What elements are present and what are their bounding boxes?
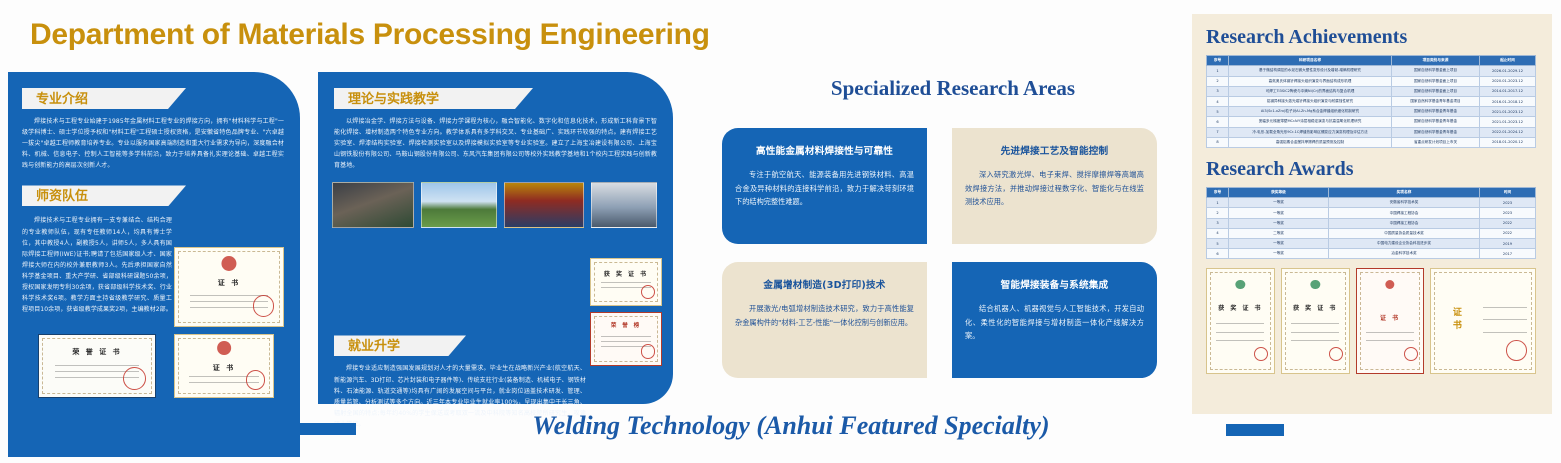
panel-major-intro: 专业介绍 焊接技术与工程专业始建于1985年金属材料工程专业的焊接方向，拥有"材… xyxy=(8,72,300,457)
research-area-heading: 先进焊接工艺及智能控制 xyxy=(952,143,1157,157)
photo-classroom xyxy=(332,182,414,228)
table-row: 4铝钢异种接头激光熔钎焊接头组织演变与耐腐蚀性研究国家自然科学基金青年基金项目2… xyxy=(1207,96,1536,106)
awards-certificate-gallery: 获 奖 证 书 获 奖 证 书 证 书 证书 xyxy=(1206,268,1536,374)
emblem-icon xyxy=(1236,280,1245,289)
emblem-icon xyxy=(1385,280,1394,289)
table-row: 1一等奖安徽省科学技术奖2023 xyxy=(1207,198,1536,208)
research-areas-title: Specialized Research Areas xyxy=(818,76,1088,101)
table-column-header: 项目类别与来源 xyxy=(1392,56,1480,66)
table-cell: 一等奖 xyxy=(1229,218,1329,228)
table-cell: 一等奖 xyxy=(1229,208,1329,218)
section-tag-faculty: 师资队伍 xyxy=(22,185,186,206)
seal-icon xyxy=(1506,340,1527,361)
table-cell: 6 xyxy=(1207,117,1229,127)
table-cell: Al3(Sc1-xZrx)粒子对Al-Zn-Mg系合金焊缝组织细化机制研究 xyxy=(1229,107,1392,117)
table-row: 4二等奖中国质量协会质量技术奖2022 xyxy=(1207,228,1536,238)
table-row: 7冷-轧形-加载全角光形9Cr-1C焊缝热影响区蠕变应力演变机理及评估方法国家自… xyxy=(1207,127,1536,137)
section-body-teaching: 以焊接冶金学、焊接方法与设备、焊接力学课程为核心，融合智能化、数字化和信息化技术… xyxy=(334,116,657,171)
photo-campus xyxy=(421,182,497,228)
table-header-row: 序号获奖等级奖项名称时间 xyxy=(1207,187,1536,197)
table-cell: 国家自然科学基金面上项目 xyxy=(1392,76,1480,86)
table-column-header: 奖项名称 xyxy=(1329,187,1480,197)
seal-icon xyxy=(1329,347,1343,361)
certificate-image: 证 书 xyxy=(174,334,274,398)
table-cell: 2023 xyxy=(1480,208,1536,218)
table-cell: 2022 xyxy=(1480,228,1536,238)
table-column-header: 起止时间 xyxy=(1480,56,1536,66)
seal-icon xyxy=(1254,347,1268,361)
table-cell: 3 xyxy=(1207,86,1229,96)
table-cell: 2 xyxy=(1207,208,1229,218)
research-area-body: 结合机器人、机器视觉与人工智能技术，开发自动化、柔性化的智能焊接与增材制造一体化… xyxy=(965,302,1144,343)
table-cell: 国家自然科学基金青年基金 xyxy=(1392,127,1480,137)
table-cell: 一等奖 xyxy=(1229,239,1329,249)
page-title: Department of Materials Processing Engin… xyxy=(30,18,710,52)
table-cell: 一等奖 xyxy=(1229,249,1329,259)
seal-icon xyxy=(246,370,266,390)
seal-icon xyxy=(641,344,656,359)
table-row: 1基于微结构调控的水泥石微大塑性变形设计及增韧-增熵机理研究国家自然科学基金面上… xyxy=(1207,66,1536,76)
table-column-header: 序号 xyxy=(1207,56,1229,66)
seal-icon xyxy=(253,295,274,316)
table-column-header: 序号 xyxy=(1207,187,1229,197)
table-cell: 2022.01-2024.12 xyxy=(1480,127,1536,137)
seal-icon xyxy=(641,285,656,300)
awards-title: Research Awards xyxy=(1206,158,1552,181)
table-cell: 二等奖 xyxy=(1229,228,1329,238)
table-cell: 中国焊接工程协会 xyxy=(1329,218,1480,228)
table-cell: 中国焊接工程协会 xyxy=(1329,208,1480,218)
table-column-header: 时间 xyxy=(1480,187,1536,197)
poster-root: Department of Materials Processing Engin… xyxy=(0,0,1561,463)
table-cell: 2021.01-2023.12 xyxy=(1480,107,1536,117)
achievements-table: 序号科研项目名称项目类别与来源起止时间 1基于微结构调控的水泥石微大塑性变形设计… xyxy=(1206,55,1536,148)
table-column-header: 获奖等级 xyxy=(1229,187,1329,197)
table-cell: 2026.01-2029.12 xyxy=(1480,66,1536,76)
table-cell: 6 xyxy=(1207,249,1229,259)
table-cell: 国家自然科学基金面上项目 xyxy=(1392,86,1480,96)
table-cell: 5 xyxy=(1207,107,1229,117)
table-row: 2一等奖中国焊接工程协会2023 xyxy=(1207,208,1536,218)
achievements-title: Research Achievements xyxy=(1206,26,1552,49)
table-cell: 2 xyxy=(1207,76,1229,86)
bottom-banner: Welding Technology (Anhui Featured Speci… xyxy=(264,405,1284,457)
certificate-image: 荣 誉 证 书 xyxy=(38,334,156,398)
photo-ceremony xyxy=(504,182,584,228)
table-cell: 1 xyxy=(1207,198,1229,208)
table-row: 8高强铝素合金搅拌摩擦焊的质量预测及控制省重点研发计划项目上市关2018.01-… xyxy=(1207,137,1536,147)
table-row: 3一等奖中国焊接工程协会2022 xyxy=(1207,218,1536,228)
table-cell: 4 xyxy=(1207,96,1229,106)
certificate-image: 荣 誉 榜 xyxy=(590,312,662,366)
table-cell: 3 xyxy=(1207,218,1229,228)
research-area-heading: 智能焊接装备与系统集成 xyxy=(952,277,1157,291)
banner-bar-right xyxy=(1226,424,1284,436)
table-cell: 冶金科学技术奖 xyxy=(1329,249,1480,259)
table-cell: 2020.01-2023.12 xyxy=(1480,76,1536,86)
certificate-image: 证 书 xyxy=(174,247,284,327)
table-cell: 国家自然科学基金青年基金 xyxy=(1392,107,1480,117)
certificate-image: 获 奖 证 书 xyxy=(1206,268,1275,374)
table-cell: 2023 xyxy=(1480,198,1536,208)
table-cell: 高氮奥氏体钢钎焊接头组织演变与界面结构成形机理 xyxy=(1229,76,1392,86)
table-cell: 安徽省科学技术奖 xyxy=(1329,198,1480,208)
section-body-major-intro: 焊接技术与工程专业始建于1985年金属材料工程专业的焊接方向，拥有"材料科学与工… xyxy=(22,116,284,171)
table-cell: 国家自然科学基金青年基金项目 xyxy=(1392,96,1480,106)
table-column-header: 科研项目名称 xyxy=(1229,56,1392,66)
research-area-heading: 金属增材制造(3D打印)技术 xyxy=(722,277,927,291)
panel-teaching: 理论与实践教学 以焊接冶金学、焊接方法与设备、焊接力学课程为核心，融合智能化、数… xyxy=(318,72,673,404)
table-cell: 2016.01-2018.12 xyxy=(1480,96,1536,106)
section-body-faculty: 焊接技术与工程专业拥有一支专兼结合、结构合理的专业教师队伍，现有专任教师14人，… xyxy=(22,215,172,315)
banner-bar-left-arm xyxy=(264,423,356,435)
table-cell: 2021.01-2023.12 xyxy=(1480,117,1536,127)
seal-icon xyxy=(1404,347,1418,361)
table-row: 5一等奖中国电力建设企业协会科技进步奖2019 xyxy=(1207,239,1536,249)
table-cell: 冷-轧形-加载全角光形9Cr-1C焊缝热影响区蠕变应力演变机理及评估方法 xyxy=(1229,127,1392,137)
research-area-card-4: 智能焊接装备与系统集成 结合机器人、机器视觉与人工智能技术，开发自动化、柔性化的… xyxy=(952,262,1157,378)
table-cell: 国家自然科学基金面上项目 xyxy=(1392,66,1480,76)
research-area-card-1: 高性能金属材料焊接性与可靠性 专注于航空航天、能源装备用先进钢铁材料、高温合金及… xyxy=(722,128,927,244)
emblem-icon xyxy=(217,341,231,355)
banner-title: Welding Technology (Anhui Featured Speci… xyxy=(368,411,1214,441)
table-cell: 省重点研发计划项目上市关 xyxy=(1392,137,1480,147)
research-area-body: 开展激光/电弧增材制造技术研究，致力于高性能复杂金属构件的"材料-工艺-性能"一… xyxy=(735,302,914,329)
table-cell: 可焊工Ti3SiC2陶瓷与中熵Ni(Cr)的界面结构与复合机理 xyxy=(1229,86,1392,96)
table-cell: 5 xyxy=(1207,239,1229,249)
emblem-icon xyxy=(1311,280,1320,289)
table-cell: 中国质量协会质量技术奖 xyxy=(1329,228,1480,238)
section-tag-employment: 就业升学 xyxy=(334,335,466,356)
table-cell: 2018.01-2020.12 xyxy=(1480,137,1536,147)
table-header-row: 序号科研项目名称项目类别与来源起止时间 xyxy=(1207,56,1536,66)
section-tag-teaching: 理论与实践教学 xyxy=(334,88,533,109)
table-cell: 2014.01-2017.12 xyxy=(1480,86,1536,96)
table-row: 5Al3(Sc1-xZrx)粒子对Al-Zn-Mg系合金焊缝组织细化机制研究国家… xyxy=(1207,107,1536,117)
table-row: 6宽幅多元梯度薄壁MCrAlY涂层相稳定演变与抗高温氧化机理研究国家自然科学基金… xyxy=(1207,117,1536,127)
emblem-icon xyxy=(221,256,236,271)
table-cell: 国家自然科学基金青年基金 xyxy=(1392,117,1480,127)
research-area-body: 深入研究激光焊、电子束焊、搅拌摩擦焊等高端高效焊接方法，并推动焊接过程数字化、智… xyxy=(965,168,1144,209)
table-cell: 7 xyxy=(1207,127,1229,137)
research-area-card-2: 先进焊接工艺及智能控制 深入研究激光焊、电子束焊、搅拌摩擦焊等高端高效焊接方法，… xyxy=(952,128,1157,244)
table-cell: 中国电力建设企业协会科技进步奖 xyxy=(1329,239,1480,249)
table-cell: 铝钢异种接头激光熔钎焊接头组织演变与耐腐蚀性研究 xyxy=(1229,96,1392,106)
table-row: 6一等奖冶金科学技术奖2017 xyxy=(1207,249,1536,259)
table-cell: 2019 xyxy=(1480,239,1536,249)
photo-competition xyxy=(591,182,657,228)
table-row: 2高氮奥氏体钢钎焊接头组织演变与界面结构成形机理国家自然科学基金面上项目2020… xyxy=(1207,76,1536,86)
table-cell: 2017 xyxy=(1480,249,1536,259)
section-tag-major-intro: 专业介绍 xyxy=(22,88,186,109)
certificate-image: 证 书 xyxy=(1356,268,1425,374)
table-cell: 高强铝素合金搅拌摩擦焊的质量预测及控制 xyxy=(1229,137,1392,147)
table-cell: 4 xyxy=(1207,228,1229,238)
table-cell: 8 xyxy=(1207,137,1229,147)
research-area-body: 专注于航空航天、能源装备用先进钢铁材料、高温合金及异种材料的连接科学前沿，致力于… xyxy=(735,168,914,209)
research-area-heading: 高性能金属材料焊接性与可靠性 xyxy=(722,143,927,157)
seal-icon xyxy=(123,367,146,390)
research-area-card-3: 金属增材制造(3D打印)技术 开展激光/电弧增材制造技术研究，致力于高性能复杂金… xyxy=(722,262,927,378)
awards-table: 序号获奖等级奖项名称时间 1一等奖安徽省科学技术奖20232一等奖中国焊接工程协… xyxy=(1206,187,1536,260)
certificate-image: 获 奖 证 书 xyxy=(1281,268,1350,374)
certificate-image: 证书 xyxy=(1430,268,1536,374)
panel-achievements: Research Achievements 序号科研项目名称项目类别与来源起止时… xyxy=(1192,14,1552,414)
table-cell: 宽幅多元梯度薄壁MCrAlY涂层相稳定演变与抗高温氧化机理研究 xyxy=(1229,117,1392,127)
table-row: 3可焊工Ti3SiC2陶瓷与中熵Ni(Cr)的界面结构与复合机理国家自然科学基金… xyxy=(1207,86,1536,96)
table-cell: 2022 xyxy=(1480,218,1536,228)
table-cell: 一等奖 xyxy=(1229,198,1329,208)
certificate-image: 获 奖 证 书 xyxy=(590,258,662,306)
table-cell: 基于微结构调控的水泥石微大塑性变形设计及增韧-增熵机理研究 xyxy=(1229,66,1392,76)
table-cell: 1 xyxy=(1207,66,1229,76)
